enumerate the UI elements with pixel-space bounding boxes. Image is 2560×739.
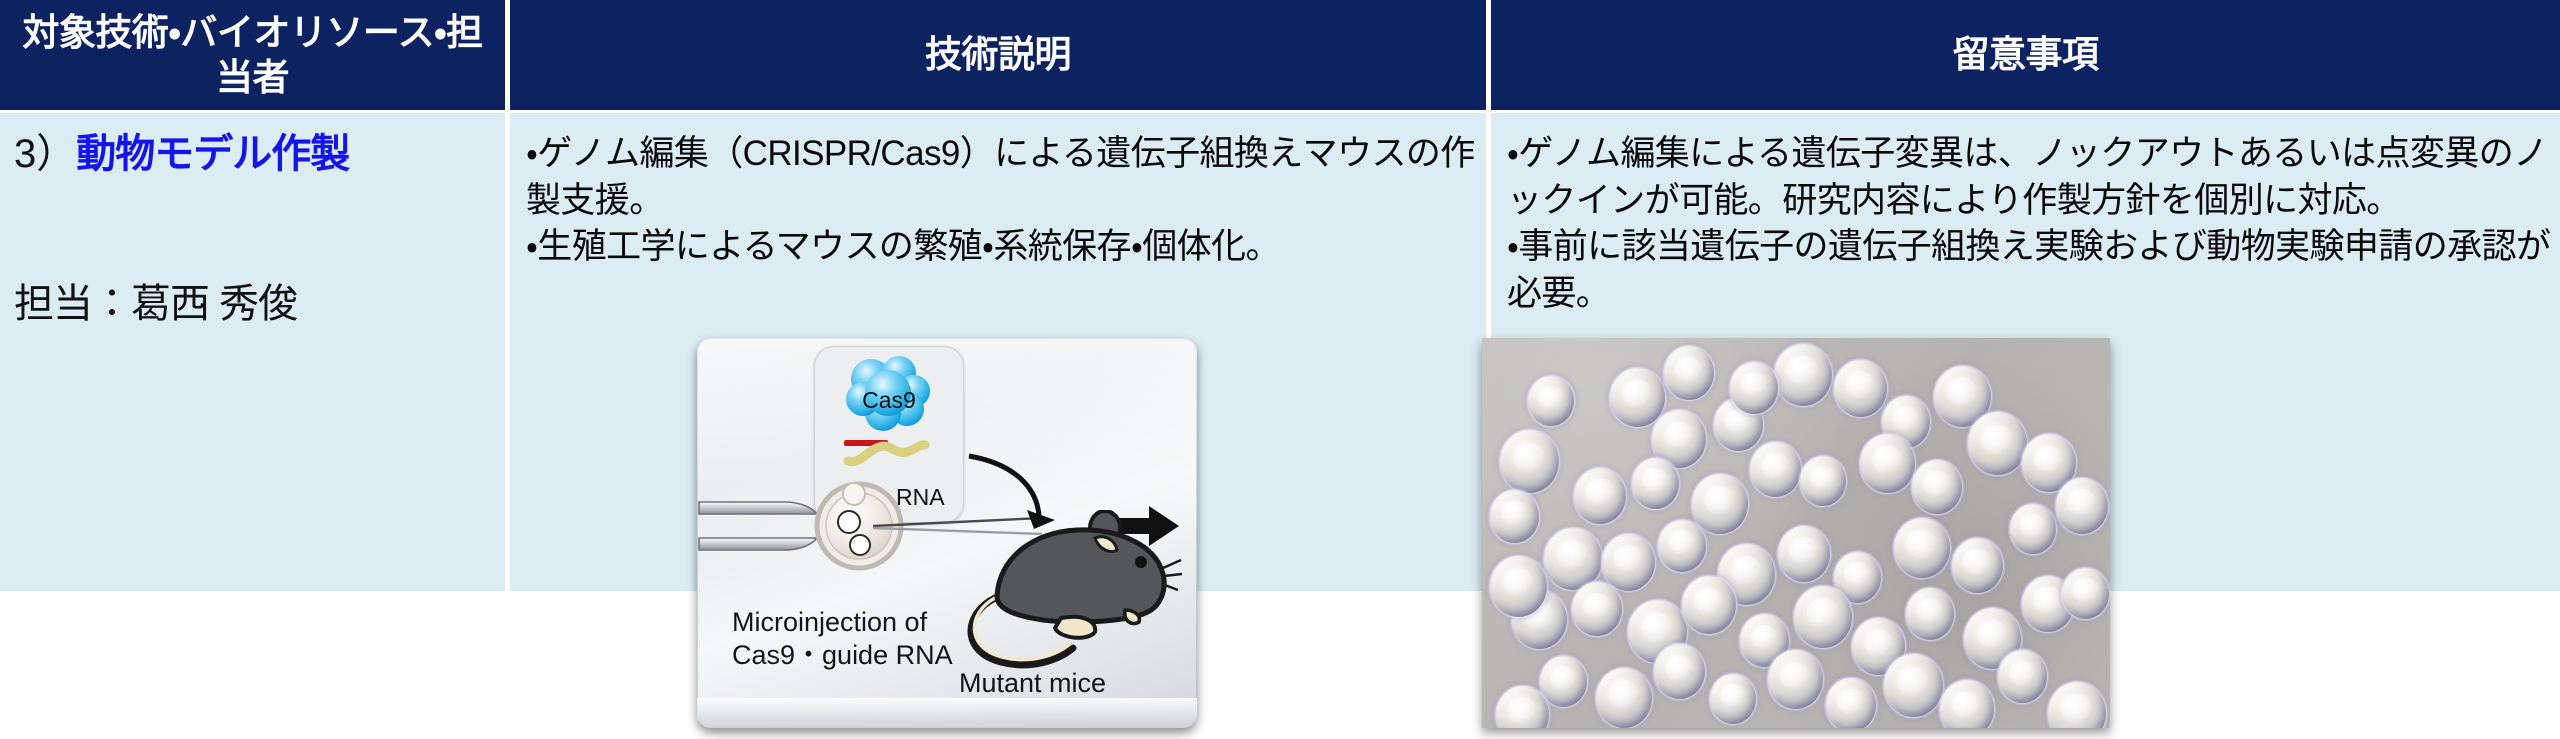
embryo-cell [1544,528,1602,590]
staff-in-charge: 担当：葛西 秀俊 [14,271,505,329]
pronucleus-2 [850,535,870,555]
embryo-cell [1490,490,1539,543]
embryo-cell [1602,534,1655,591]
embryo-cell [1998,650,2047,703]
embryo-cell [1894,518,1950,578]
microinjection-caption-line2: Cas9・guide RNA [732,639,1022,672]
column-header-notes: 留意事項 [1491,0,2560,110]
technology-title: 3）動物モデル作製 [14,133,505,175]
embryo-cell [1500,430,1559,493]
polar-body [843,483,865,505]
embryo-cell [1834,360,1887,417]
table-header-row: 対象技術・バイオリソース・担当者 技術説明 留意事項 [0,0,2560,110]
header-divider-2 [1486,0,1491,110]
crispr-workflow-figure: Cas9 guide RNA [697,338,1197,728]
description-text: ・ゲノム編集（CRISPR/Cas9）による遺伝子組換えマウスの作製支援。 ・生… [526,131,1486,271]
column-header-target-technology: 対象技術・バイオリソース・担当者 [0,0,505,110]
technology-name: 動物モデル作製 [76,132,349,176]
embryo-cell [1682,576,1736,634]
embryo-cell [1654,644,1705,699]
embryo-cell [1574,468,1626,524]
embryo-cell [1610,368,1665,427]
microinjection-caption: Microinjection of Cas9・guide RNA [732,606,1022,672]
cell-target-technology: 3）動物モデル作製 担当：葛西 秀俊 [0,113,505,591]
embryo-cell [1540,656,1587,707]
embryo-cell [1778,526,1830,582]
embryo-cell [1692,474,1748,534]
column-header-label: 対象技術・バイオリソース・担当者 [10,10,495,100]
table-body-row: 3）動物モデル作製 担当：葛西 秀俊 ・ゲノム編集（CRISPR/Cas9）によ… [0,113,2560,591]
holding-pipette [699,502,817,550]
embryo-cell [1912,460,1962,514]
embryo-cell [1596,668,1652,728]
embryo-cell [1952,538,2003,593]
description-line: ・ゲノム編集（CRISPR/Cas9）による遺伝子組換えマウスの作製支援。 [526,131,1486,224]
embryo-cell [1884,654,1943,717]
notes-line: ・事前に該当遺伝子の遺伝子組換え実験および動物実験申請の承認が必要。 [1507,224,2560,317]
technology-table: 対象技術・バイオリソース・担当者 技術説明 留意事項 3）動物モデル作製 担当：… [0,0,2560,739]
page-bottom-area [0,591,2560,739]
cas9-label: Cas9 [815,387,963,414]
pronucleus-1 [838,511,860,533]
microinjection-caption-line1: Microinjection of [732,606,1022,639]
embryo-cell [1528,376,1574,426]
embryo-cell [1794,586,1852,648]
notes-line: ・ゲノム編集による遺伝子変異は、ノックアウトあるいは点変異のノックインが可能。研… [1507,131,2560,224]
embryo-cell [1768,650,1823,709]
description-line: ・生殖工学によるマウスの繁殖・系統保存・個体化。 [526,224,1486,271]
notes-text: ・ゲノム編集による遺伝子変異は、ノックアウトあるいは点変異のノックインが可能。研… [1507,131,2560,317]
embryo-cell [1968,412,2027,475]
column-header-technology-description: 技術説明 [510,0,1486,110]
embryo-cell [1658,520,1706,572]
embryo-cell [1750,442,1801,497]
embryo-cell [1490,556,1547,617]
header-divider-1 [505,0,510,110]
embryo-cell [2056,478,2108,534]
embryo-cell [1632,458,1679,509]
embryo-cell [1826,678,1876,728]
embryo-cell [1860,434,1915,493]
embryo-cell [1906,588,1954,640]
embryo-cell [1730,362,1778,414]
embryo-cell [1774,344,1832,406]
column-header-label: 技術説明 [925,32,1071,77]
column-header-label: 留意事項 [1953,32,2099,77]
embryo-cell [1710,674,1756,724]
mutant-mice-caption: Mutant mice [959,668,1179,699]
embryo-cell [1800,456,1846,506]
embryo-micrograph-photo [1482,338,2110,728]
technology-index: 3） [14,132,76,176]
embryo-cell [2062,568,2109,619]
embryo-cell [1664,346,1714,400]
embryo-cell [2010,504,2056,554]
embryo-cell [1572,582,1622,636]
